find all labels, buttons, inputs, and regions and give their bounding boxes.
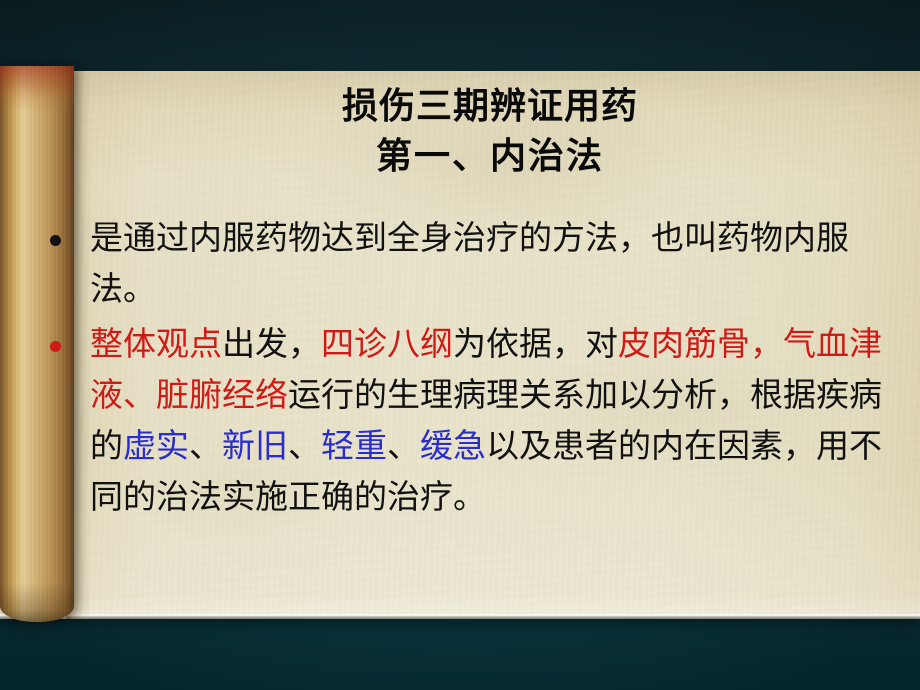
title-line-1: 损伤三期辨证用药 [95, 82, 885, 132]
title-line-2: 第一、内治法 [95, 132, 885, 182]
text-run: 、 [387, 429, 420, 465]
text-run: 新旧 [222, 429, 288, 465]
text-run: 、 [288, 429, 321, 465]
bullet-marker-icon [50, 235, 61, 246]
text-run: 、 [189, 429, 222, 465]
bullet-item: 是通过内服药物达到全身治疗的方法，也叫药物内服法。 [42, 214, 898, 316]
slide-content: 损伤三期辨证用药 第一、内治法 是通过内服药物达到全身治疗的方法，也叫药物内服法… [0, 0, 920, 690]
text-run: 出发， [222, 327, 321, 363]
slide-body: 是通过内服药物达到全身治疗的方法，也叫药物内服法。 整体观点出发，四诊八纲为依据… [42, 214, 898, 528]
text-run: 为依据，对 [453, 327, 618, 363]
bullet-item: 整体观点出发，四诊八纲为依据，对皮肉筋骨，气血津液、脏腑经络运行的生理病理关系加… [42, 320, 898, 524]
text-run: 缓急 [420, 429, 486, 465]
presentation-slide: 损伤三期辨证用药 第一、内治法 是通过内服药物达到全身治疗的方法，也叫药物内服法… [0, 0, 920, 690]
text-run: 是通过内服药物达到全身治疗的方法，也叫药物内服法。 [90, 221, 849, 308]
text-run: 整体观点 [90, 327, 222, 363]
bullet-text: 是通过内服药物达到全身治疗的方法，也叫药物内服法。 [90, 214, 898, 316]
bullet-text: 整体观点出发，四诊八纲为依据，对皮肉筋骨，气血津液、脏腑经络运行的生理病理关系加… [90, 320, 898, 524]
bullet-marker-icon [50, 341, 61, 352]
text-run: 四诊八纲 [321, 327, 453, 363]
text-run: 虚实 [123, 429, 189, 465]
text-run: 轻重 [321, 429, 387, 465]
slide-title: 损伤三期辨证用药 第一、内治法 [95, 82, 885, 182]
